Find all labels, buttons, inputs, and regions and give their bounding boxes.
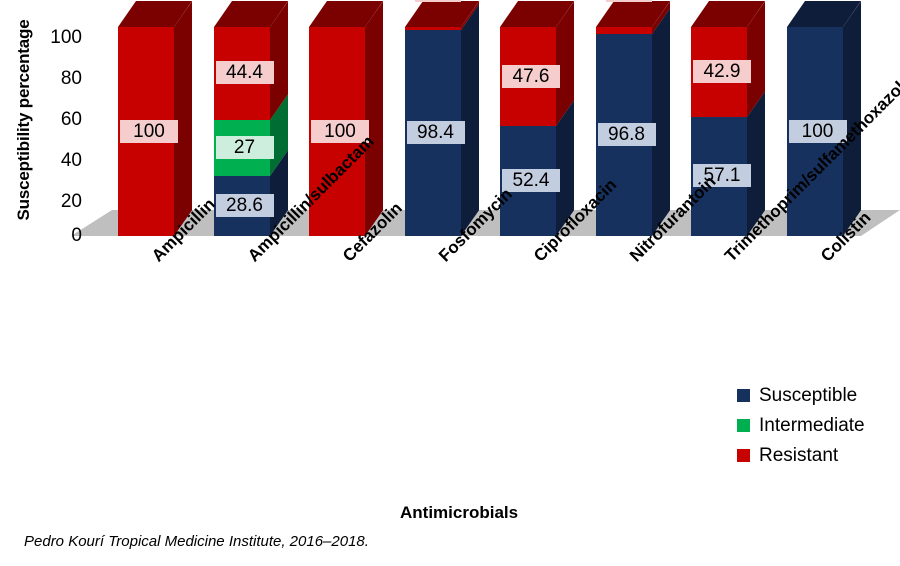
value-label: 52.4: [502, 169, 560, 192]
y-tick-100: 100: [34, 28, 82, 47]
bar-colistin[interactable]: [787, 0, 843, 566]
bar-ampicillin[interactable]: [118, 0, 174, 566]
bar-nitrofurantoin[interactable]: [596, 0, 652, 566]
value-label: 28.6: [216, 194, 274, 217]
bar-top-face: [309, 1, 385, 29]
bar-top-face: [214, 1, 290, 29]
value-label: 44.4: [216, 61, 274, 84]
y-axis-title: Susceptibility percentage: [14, 0, 34, 250]
legend-label-resistant: Resistant: [759, 446, 838, 465]
value-label: 3.2: [606, 0, 652, 2]
value-label: 47.6: [502, 65, 560, 88]
y-tick-60: 60: [34, 110, 82, 129]
bar-top-face: [691, 1, 767, 29]
bar-top-face: [118, 1, 194, 29]
y-tick-0: 0: [34, 226, 82, 245]
bar-top-face: [405, 1, 481, 29]
y-tick-80: 80: [34, 69, 82, 88]
value-label: 100: [120, 120, 178, 143]
bar-trimethoprim-sulfamethoxazole[interactable]: [691, 0, 747, 566]
value-label: 42.9: [693, 60, 751, 83]
value-label: 98.4: [407, 121, 465, 144]
bar-top-face: [787, 1, 863, 29]
value-label: 1.6: [415, 0, 461, 2]
bar-top-face: [596, 1, 672, 29]
legend-swatch-intermediate: [737, 419, 750, 432]
bar-fosfomycin[interactable]: [405, 0, 461, 566]
x-axis-title: Antimicrobials: [400, 503, 518, 523]
chart-root: Susceptibility percentage 100 80 60 40 2…: [0, 0, 900, 566]
legend: Susceptible Intermediate Resistant: [737, 380, 865, 470]
legend-label-susceptible: Susceptible: [759, 386, 857, 405]
y-tick-20: 20: [34, 192, 82, 211]
legend-swatch-resistant: [737, 449, 750, 462]
legend-item-resistant[interactable]: Resistant: [737, 440, 865, 470]
footnote: Pedro Kourí Tropical Medicine Institute,…: [24, 533, 369, 550]
value-label: 27: [216, 136, 274, 159]
legend-swatch-susceptible: [737, 389, 750, 402]
bar-top-face: [500, 1, 576, 29]
bar-ampicillin-sulbactam[interactable]: [214, 0, 270, 566]
legend-item-intermediate[interactable]: Intermediate: [737, 410, 865, 440]
value-label: 96.8: [598, 123, 656, 146]
bar-cefazolin[interactable]: [309, 0, 365, 566]
legend-item-susceptible[interactable]: Susceptible: [737, 380, 865, 410]
legend-label-intermediate: Intermediate: [759, 416, 865, 435]
y-tick-40: 40: [34, 151, 82, 170]
